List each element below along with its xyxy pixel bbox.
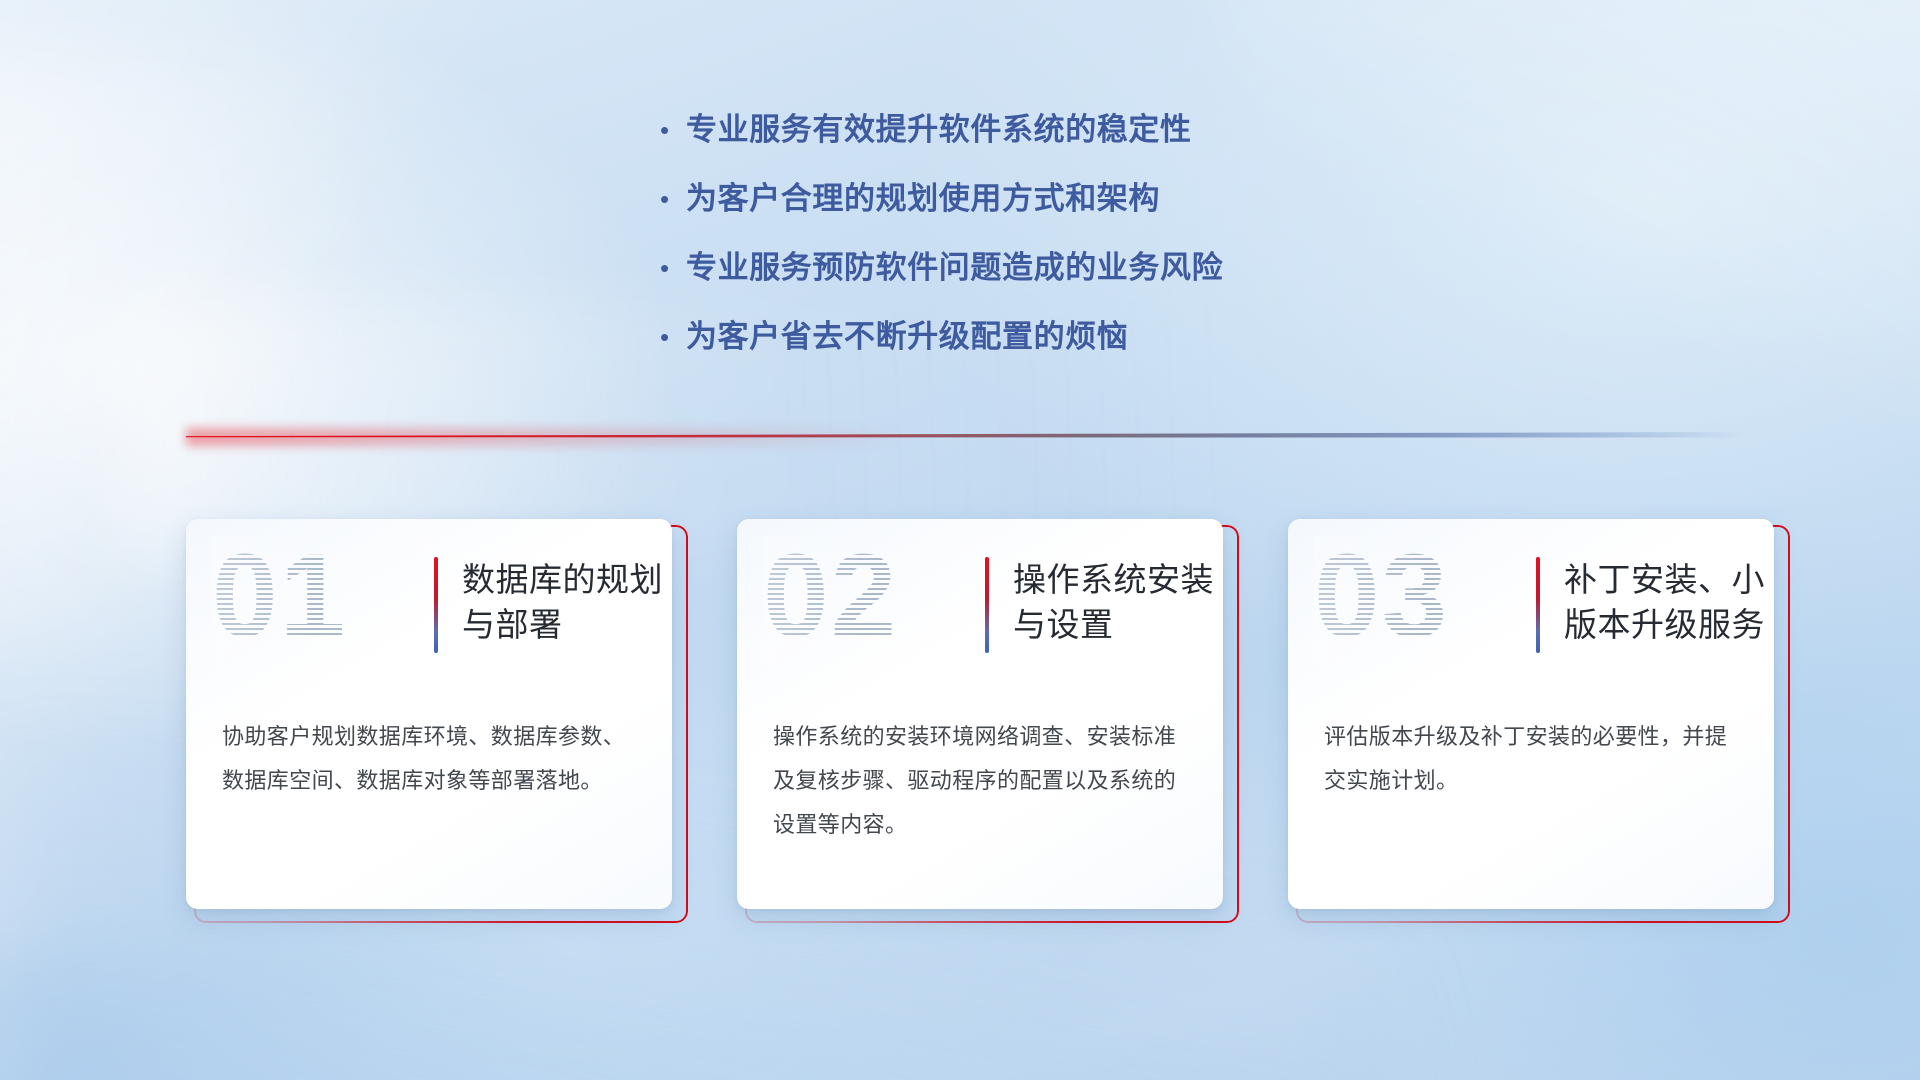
card-body-text: 评估版本升级及补丁安装的必要性，并提交实施计划。 bbox=[1324, 715, 1740, 803]
card-title-block: 补丁安装、小 版本升级服务 bbox=[1536, 557, 1765, 653]
bullet-text: 为客户省去不断升级配置的烦恼 bbox=[686, 315, 1128, 359]
card-title: 操作系统安装 与设置 bbox=[1013, 557, 1214, 647]
card-title: 数据库的规划 与部署 bbox=[462, 557, 663, 647]
card-body-text: 协助客户规划数据库环境、数据库参数、数据库空间、数据库对象等部署落地。 bbox=[222, 715, 638, 803]
bullet-item: • 专业服务预防软件问题造成的业务风险 bbox=[660, 246, 1480, 290]
title-accent-bar bbox=[1536, 557, 1540, 653]
bullet-text: 专业服务预防软件问题造成的业务风险 bbox=[686, 246, 1223, 290]
card-header: 02 操作系统安装 与设置 bbox=[737, 519, 1223, 694]
service-card-row: 01 数据库的规划 与部署 协助客户规划数据库环境、数据库参数、数据库空间、数据… bbox=[186, 519, 1786, 924]
bullet-item: • 为客户合理的规划使用方式和架构 bbox=[660, 177, 1480, 221]
card-body-text: 操作系统的安装环境网络调查、安装标准及复核步骤、驱动程序的配置以及系统的设置等内… bbox=[773, 715, 1189, 847]
service-card-03[interactable]: 03 补丁安装、小 版本升级服务 评估版本升级及补丁安装的必要性，并提交实施计划… bbox=[1288, 519, 1784, 919]
card-number-decorative: 03 bbox=[1314, 537, 1449, 655]
service-card-02[interactable]: 02 操作系统安装 与设置 操作系统的安装环境网络调查、安装标准及复核步骤、驱动… bbox=[737, 519, 1233, 919]
card-number-decorative: 02 bbox=[763, 537, 898, 655]
card-face: 02 操作系统安装 与设置 操作系统的安装环境网络调查、安装标准及复核步骤、驱动… bbox=[737, 519, 1223, 909]
bullet-dot-icon: • bbox=[660, 108, 686, 152]
benefits-bullet-list: • 专业服务有效提升软件系统的稳定性 • 为客户合理的规划使用方式和架构 • 专… bbox=[660, 108, 1480, 384]
card-header: 01 数据库的规划 与部署 bbox=[186, 519, 672, 694]
bullet-dot-icon: • bbox=[660, 177, 686, 221]
card-face: 01 数据库的规划 与部署 协助客户规划数据库环境、数据库参数、数据库空间、数据… bbox=[186, 519, 672, 909]
service-card-01[interactable]: 01 数据库的规划 与部署 协助客户规划数据库环境、数据库参数、数据库空间、数据… bbox=[186, 519, 682, 919]
card-face: 03 补丁安装、小 版本升级服务 评估版本升级及补丁安装的必要性，并提交实施计划… bbox=[1288, 519, 1774, 909]
title-accent-bar bbox=[985, 557, 989, 653]
card-title: 补丁安装、小 版本升级服务 bbox=[1564, 557, 1765, 647]
title-accent-bar bbox=[434, 557, 438, 653]
bullet-item: • 为客户省去不断升级配置的烦恼 bbox=[660, 315, 1480, 359]
card-title-block: 数据库的规划 与部署 bbox=[434, 557, 663, 653]
bullet-dot-icon: • bbox=[660, 246, 686, 290]
card-title-block: 操作系统安装 与设置 bbox=[985, 557, 1214, 653]
bullet-dot-icon: • bbox=[660, 315, 686, 359]
bullet-text: 专业服务有效提升软件系统的稳定性 bbox=[686, 108, 1192, 152]
card-header: 03 补丁安装、小 版本升级服务 bbox=[1288, 519, 1774, 694]
bullet-item: • 专业服务有效提升软件系统的稳定性 bbox=[660, 108, 1480, 152]
section-divider bbox=[186, 428, 1746, 446]
slide-root: • 专业服务有效提升软件系统的稳定性 • 为客户合理的规划使用方式和架构 • 专… bbox=[0, 0, 1920, 1080]
bullet-text: 为客户合理的规划使用方式和架构 bbox=[686, 177, 1160, 221]
card-number-decorative: 01 bbox=[212, 537, 347, 655]
